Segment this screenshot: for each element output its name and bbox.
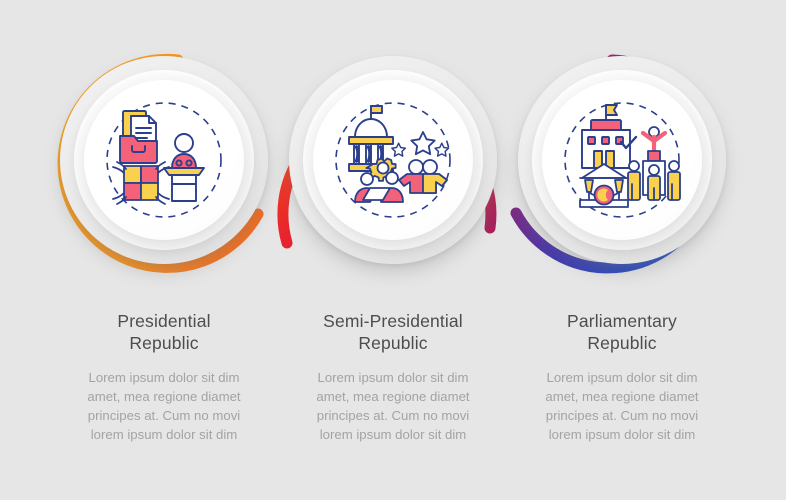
text-block-presidential: Presidential Republic Lorem ipsum dolor …	[44, 310, 284, 444]
people-hands-icon	[399, 160, 447, 193]
step-title: Presidential Republic	[44, 310, 284, 354]
icon-group-parliamentary	[542, 80, 702, 240]
icon-group-presidential	[84, 80, 244, 240]
infographic-stage: Presidential Republic Lorem ipsum dolor …	[0, 0, 786, 500]
courthouse-justice-icon	[580, 164, 628, 207]
document-folder-icon	[120, 111, 157, 163]
step-description: Lorem ipsum dolor sit dim amet, mea regi…	[44, 368, 284, 444]
stars-rating-icon	[392, 132, 449, 156]
text-block-semi-presidential: Semi-Presidential Republic Lorem ipsum d…	[273, 310, 513, 444]
step-description: Lorem ipsum dolor sit dim amet, mea regi…	[273, 368, 513, 444]
puzzle-hands-icon	[113, 162, 169, 204]
podium-speaker-icon	[164, 134, 204, 201]
government-building-check-icon	[582, 105, 636, 168]
step-title: Semi-Presidential Republic	[273, 310, 513, 354]
step-title: Parliamentary Republic	[502, 310, 742, 354]
text-block-parliamentary: Parliamentary Republic Lorem ipsum dolor…	[502, 310, 742, 444]
icon-group-semi-presidential	[313, 80, 473, 240]
step-description: Lorem ipsum dolor sit dim amet, mea regi…	[502, 368, 742, 444]
